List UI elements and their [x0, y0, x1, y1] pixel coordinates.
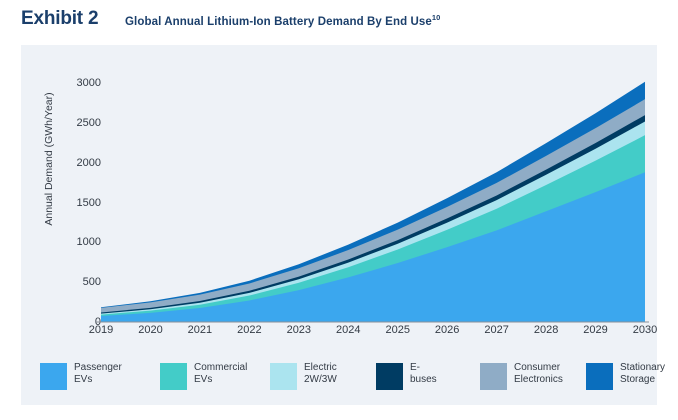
legend-label: Passenger EVs	[74, 362, 122, 385]
exhibit-tag: Exhibit 2	[21, 8, 98, 30]
title-footnote-marker: 10	[432, 13, 441, 22]
legend-swatch	[270, 363, 297, 390]
legend-swatch	[40, 363, 67, 390]
legend-swatch	[586, 363, 613, 390]
legend-label: E-buses	[410, 362, 437, 385]
page-title: Global Annual Lithium-Ion Battery Demand…	[125, 13, 440, 28]
chart-panel: Annual Demand (GWh/Year) 050010001500200…	[21, 45, 657, 351]
page-title-text: Global Annual Lithium-Ion Battery Demand…	[125, 16, 432, 28]
legend-label: Electric 2W/3W	[304, 362, 337, 385]
legend-label: Consumer Electronics	[514, 362, 563, 385]
chart-legend: Passenger EVsCommercial EVsElectric 2W/3…	[21, 351, 657, 405]
legend-swatch	[376, 363, 403, 390]
legend-label: Stationary Storage	[620, 362, 665, 385]
exhibit-header: Exhibit 2 Global Annual Lithium-Ion Batt…	[0, 0, 678, 45]
legend-swatch	[160, 363, 187, 390]
legend-label: Commercial EVs	[194, 362, 247, 385]
stacked-area-plot	[21, 45, 657, 351]
legend-swatch	[480, 363, 507, 390]
